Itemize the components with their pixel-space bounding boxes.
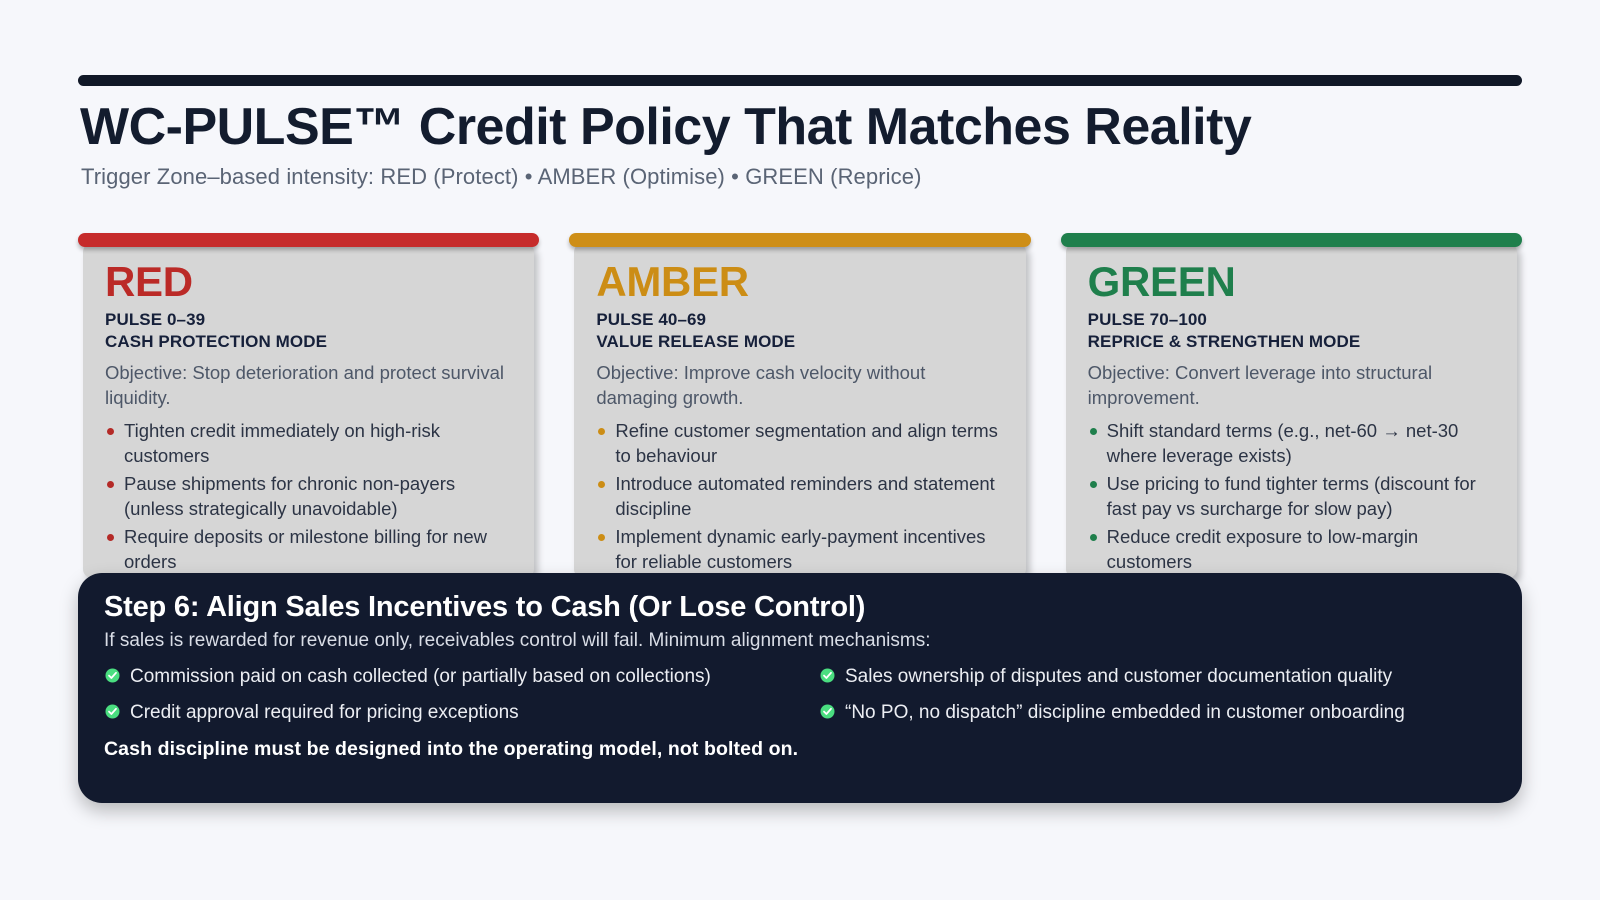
header-rule [78,75,1522,86]
zone-card-body-red: RED PULSE 0–39 CASH PROTECTION MODE Obje… [83,243,534,578]
zone-card-body-green: GREEN PULSE 70–100 REPRICE & STRENGTHEN … [1066,243,1517,578]
page-subtitle: Trigger Zone–based intensity: RED (Prote… [81,164,922,190]
list-item-label: Credit approval required for pricing exc… [130,702,519,723]
zone-accent-bar-amber [569,233,1030,247]
zone-pulse-green: PULSE 70–100 [1088,309,1495,331]
zone-card-green: GREEN PULSE 70–100 REPRICE & STRENGTHEN … [1061,233,1522,578]
list-item: Shift standard terms (e.g., net-60 → net… [1088,419,1495,469]
slide: WC-PULSE™ Credit Policy That Matches Rea… [0,0,1600,900]
list-item: Pause shipments for chronic non-payers (… [105,472,512,522]
zone-objective-red: Objective: Stop deterioration and protec… [105,361,512,411]
list-item: Require deposits or milestone billing fo… [105,525,512,575]
check-circle-icon [105,668,120,683]
overlay-checklist-right: Sales ownership of disputes and customer… [819,664,1496,737]
overlay-intro: If sales is rewarded for revenue only, r… [104,629,1496,654]
page-title: WC-PULSE™ Credit Policy That Matches Rea… [80,98,1540,156]
overlay-columns: Commission paid on cash collected (or pa… [104,664,1496,737]
zone-card-amber: AMBER PULSE 40–69 VALUE RELEASE MODE Obj… [569,233,1030,578]
list-item: “No PO, no dispatch” discipline embedded… [819,700,1496,725]
zone-mode-amber: VALUE RELEASE MODE [596,331,1003,353]
list-item: Credit approval required for pricing exc… [104,700,781,725]
list-item-label: Commission paid on cash collected (or pa… [130,666,711,687]
zone-mode-green: REPRICE & STRENGTHEN MODE [1088,331,1495,353]
zone-name-red: RED [105,261,512,303]
zone-card-red: RED PULSE 0–39 CASH PROTECTION MODE Obje… [78,233,539,578]
list-item: Sales ownership of disputes and customer… [819,664,1496,689]
check-circle-icon [105,704,120,719]
list-item-label: “No PO, no dispatch” discipline embedded… [845,702,1405,723]
list-item: Implement dynamic early-payment incentiv… [596,525,1003,575]
list-item: Commission paid on cash collected (or pa… [104,664,781,689]
list-item: Tighten credit immediately on high-risk … [105,419,512,469]
zone-accent-bar-green [1061,233,1522,247]
zone-bullet-list-green: Shift standard terms (e.g., net-60 → net… [1088,419,1495,575]
zone-objective-green: Objective: Convert leverage into structu… [1088,361,1495,411]
list-item: Refine customer segmentation and align t… [596,419,1003,469]
list-item: Reduce credit exposure to low-margin cus… [1088,525,1495,575]
list-item: Introduce automated reminders and statem… [596,472,1003,522]
zone-mode-red: CASH PROTECTION MODE [105,331,512,353]
zone-bullet-list-amber: Refine customer segmentation and align t… [596,419,1003,578]
overlay-checklist-left: Commission paid on cash collected (or pa… [104,664,781,737]
list-item-label: Sales ownership of disputes and customer… [845,666,1392,687]
zone-name-amber: AMBER [596,261,1003,303]
step-overlay-panel: Step 6: Align Sales Incentives to Cash (… [78,573,1522,803]
zone-cards: RED PULSE 0–39 CASH PROTECTION MODE Obje… [78,233,1522,578]
check-circle-icon [820,704,835,719]
check-circle-icon [820,668,835,683]
zone-card-body-amber: AMBER PULSE 40–69 VALUE RELEASE MODE Obj… [574,243,1025,578]
zone-pulse-amber: PULSE 40–69 [596,309,1003,331]
zone-name-green: GREEN [1088,261,1495,303]
zone-accent-bar-red [78,233,539,247]
zone-pulse-red: PULSE 0–39 [105,309,512,331]
overlay-title: Step 6: Align Sales Incentives to Cash (… [104,591,1496,623]
overlay-footer: Cash discipline must be designed into th… [104,738,1496,761]
zone-objective-amber: Objective: Improve cash velocity without… [596,361,1003,411]
list-item: Use pricing to fund tighter terms (disco… [1088,472,1495,522]
zone-bullet-list-red: Tighten credit immediately on high-risk … [105,419,512,578]
